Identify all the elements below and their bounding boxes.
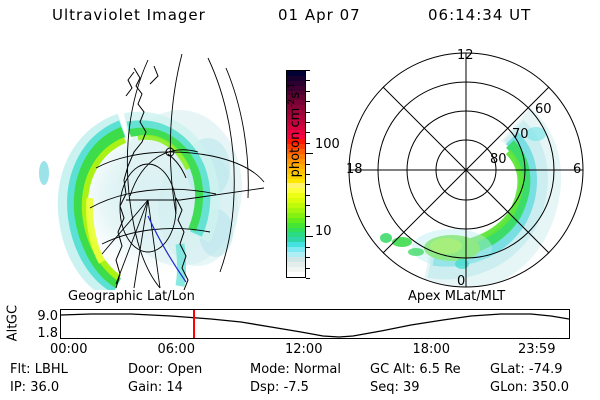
orbit-ytick-low: 1.8 [22,326,58,341]
orbit-xtick-2359: 23:59 [518,342,555,357]
mlt-label-6: 6 [573,162,581,177]
geographic-panel-caption: Geographic Lat/Lon [68,289,195,304]
colorbar-tick [306,80,310,81]
status-glon: GLon: 350.0 [490,380,569,395]
polar-aurora-plot [340,42,592,294]
orbit-y-axis-label: GC Alt [4,305,22,343]
status-label: Dsp: [250,380,284,395]
status-label: Seq: [370,380,403,395]
colorbar-band [287,272,305,277]
status-value: -74.9 [529,362,563,377]
orbit-altitude-plot[interactable] [60,309,570,339]
colorbar-tick-label-100: 100 [315,137,340,152]
status-mode: Mode: Normal [250,362,341,377]
geographic-aurora-plot [30,48,265,290]
status-label: Mode: [250,362,294,377]
status-seq: Seq: 39 [370,380,420,395]
status-row-1: Flt: LBHL Door: Open Mode: Normal GC Alt… [10,362,592,380]
aurora-emission-layer [39,108,244,288]
colorbar-group: photon cm-2s-1 10010 [268,62,344,288]
colorbar-tick [306,91,310,92]
colorbar-tick [306,70,310,71]
orbit-xtick-1800: 18:00 [413,342,450,357]
colorbar-tick-label-10: 10 [315,224,332,239]
status-door: Door: Open [128,362,202,377]
colorbar-tick [306,174,310,175]
status-gc-alt: GC Alt: 6.5 Re [370,362,461,377]
mlat-label-70: 70 [512,127,529,142]
colorbar-tick [306,101,310,102]
orbit-altitude-trace [61,310,569,338]
status-value: 36.0 [30,380,59,395]
colorbar-tick [306,112,310,113]
colorbar-tick [306,216,310,217]
status-footer: Flt: LBHL Door: Open Mode: Normal GC Alt… [10,362,592,398]
colorbar-tick [306,278,310,279]
colorbar-unit-exp1: -2 [287,99,297,108]
instrument-title: Ultraviolet Imager [52,6,206,24]
colorbar-tick [306,268,310,269]
status-gain: Gain: 14 [128,380,183,395]
orbit-current-time-marker [193,310,195,338]
status-label: Door: [128,362,168,377]
colorbar-tick [306,164,310,165]
status-label: GC Alt: [370,362,419,377]
colorbar-unit-exp2: -1 [287,83,297,92]
status-value: Open [168,362,203,377]
colorbar-tick [306,122,310,123]
mlt-label-12: 12 [457,48,474,63]
status-label: Gain: [128,380,166,395]
status-label: IP: [10,380,30,395]
status-value: 14 [166,380,183,395]
colorbar-tick [306,184,310,185]
apex-panel-caption: Apex MLat/MLT [408,289,505,304]
polar-grid [349,53,583,287]
mlt-label-18: 18 [346,162,363,177]
status-dsp: Dsp: -7.5 [250,380,309,395]
geographic-image-panel[interactable] [30,48,265,290]
observation-time: 06:14:34 UT [428,6,531,24]
colorbar-tick [306,247,310,248]
orbit-xtick-0000: 00:00 [50,342,87,357]
mlat-label-60: 60 [535,102,552,117]
colorbar-tick [306,226,310,227]
status-ip: IP: 36.0 [10,380,59,395]
status-value: 350.0 [532,380,569,395]
colorbar-tick [306,257,310,258]
status-label: GLat: [490,362,529,377]
observation-date: 01 Apr 07 [278,6,361,24]
orbit-xtick-0600: 06:00 [158,342,195,357]
colorbar-tick [306,236,313,237]
status-value: 39 [403,380,420,395]
colorbar-tick [306,143,310,144]
colorbar-unit-main: photon cm [288,108,303,178]
colorbar-unit-mid: s [288,92,303,99]
colorbar-tick [306,153,313,154]
status-value: LBHL [35,362,68,377]
orbit-ytick-high: 9.0 [22,309,58,324]
colorbar-tick-marks [306,70,314,278]
colorbar-axis-label: photon cm-2s-1 [287,45,303,215]
status-value: 6.5 Re [419,362,460,377]
status-value: Normal [294,362,341,377]
polar-aurora-emission-layer [380,124,546,272]
status-glat: GLat: -74.9 [490,362,563,377]
colorbar-tick [306,195,310,196]
status-label: Flt: [10,362,35,377]
status-label: GLon: [490,380,532,395]
status-value: -7.5 [284,380,309,395]
orbit-xtick-1200: 12:00 [285,342,322,357]
mlat-label-80: 80 [490,152,507,167]
status-row-2: IP: 36.0 Gain: 14 Dsp: -7.5 Seq: 39 GLon… [10,380,592,398]
colorbar-tick [306,205,310,206]
apex-mlat-mlt-panel[interactable]: 12 6 0 18 60 70 80 [340,42,592,294]
colorbar-tick [306,132,310,133]
orbit-y-axis-label-alt: Alt [6,315,21,351]
status-flt: Flt: LBHL [10,362,68,377]
mlt-label-0: 0 [457,274,465,289]
